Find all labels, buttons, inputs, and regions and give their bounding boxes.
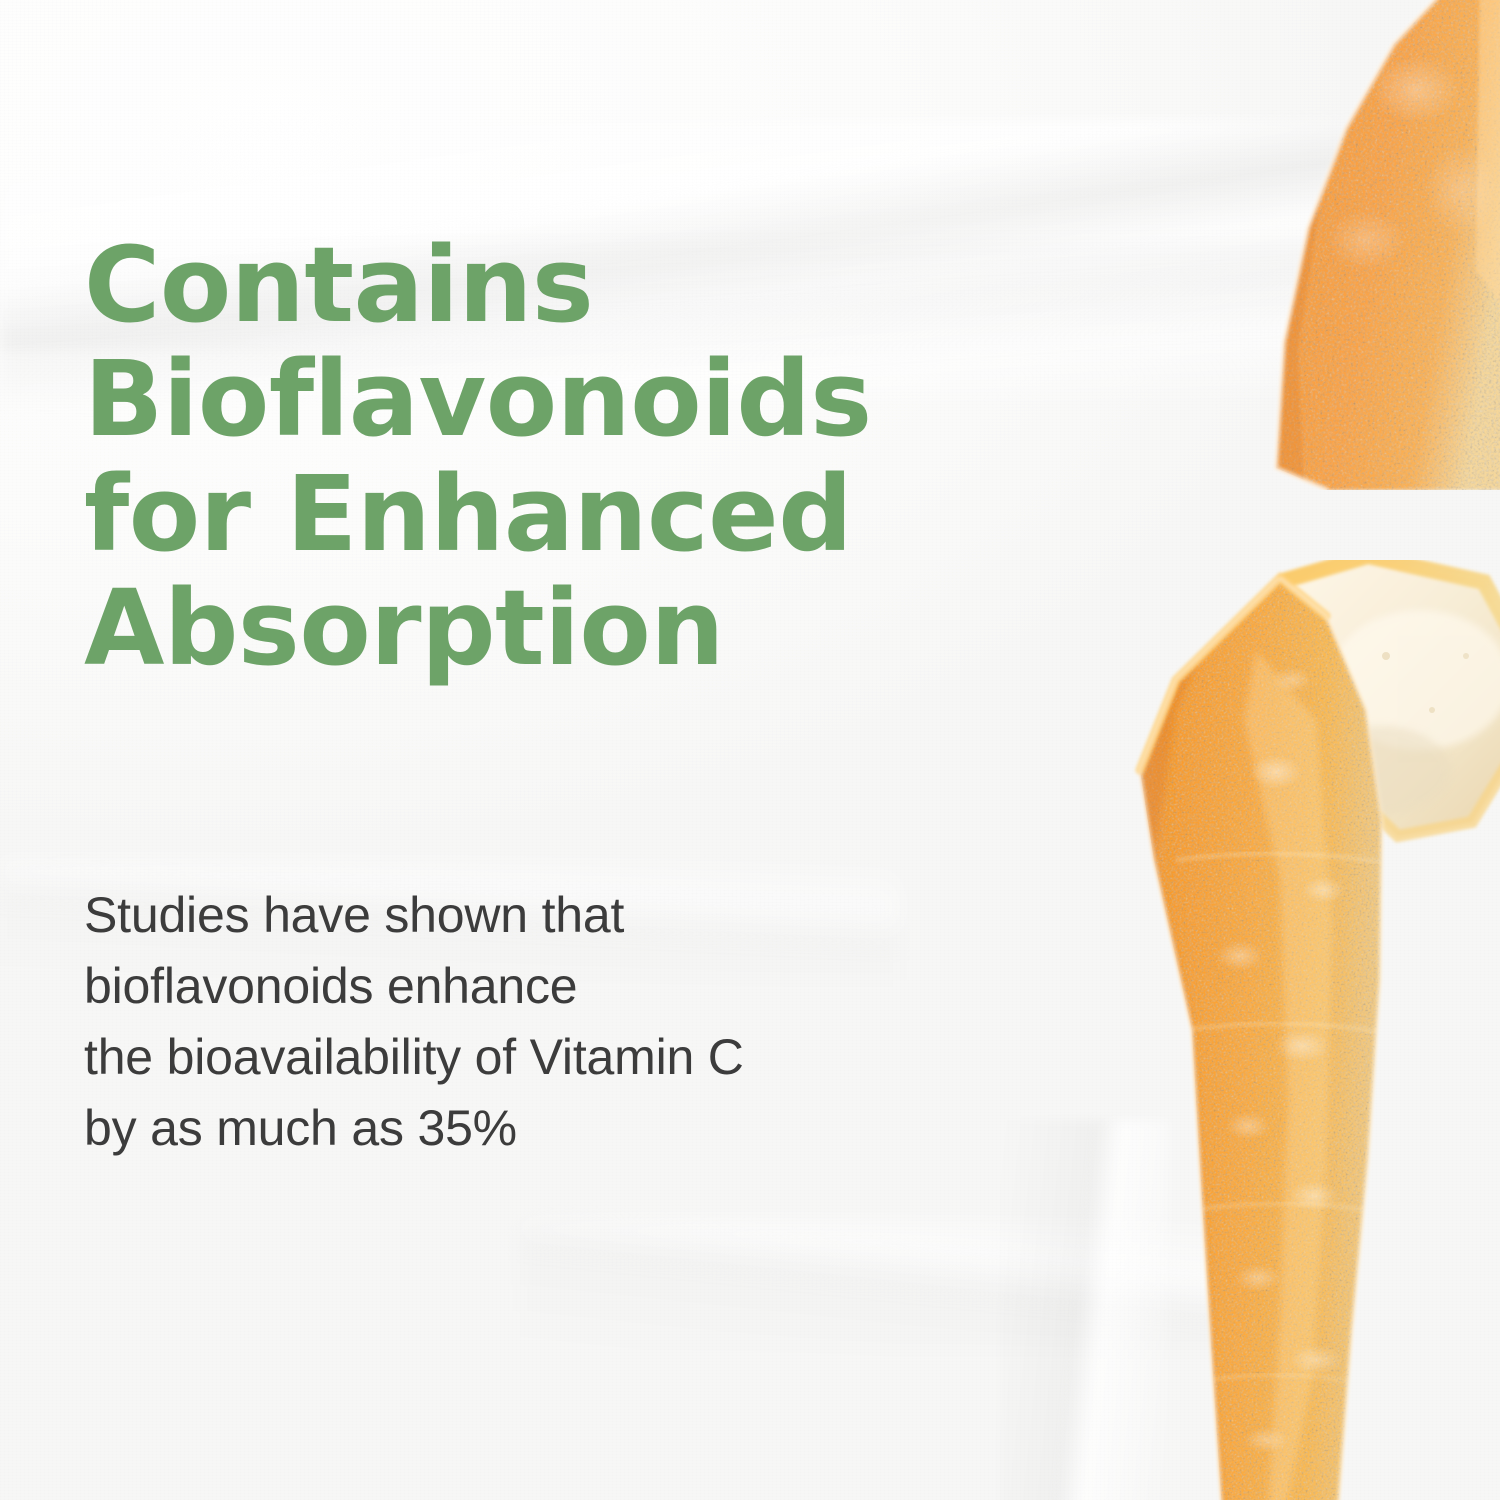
infographic-canvas: Contains Bioflavonoids for Enhanced Abso… xyxy=(0,0,1500,1500)
headline-line-1: Contains xyxy=(84,228,1084,342)
headline-line-4: Absorption xyxy=(84,571,1084,685)
headline-block: Contains Bioflavonoids for Enhanced Abso… xyxy=(84,228,1084,686)
body-copy: Studies have shown that bioflavonoids en… xyxy=(84,880,1084,1164)
body-line-2: bioflavonoids enhance xyxy=(84,951,1084,1022)
page-title: Contains Bioflavonoids for Enhanced Abso… xyxy=(84,228,1084,686)
body-line-1: Studies have shown that xyxy=(84,880,1084,951)
headline-line-2: Bioflavonoids xyxy=(84,342,1084,456)
headline-line-3: for Enhanced xyxy=(84,457,1084,571)
body-line-4: by as much as 35% xyxy=(84,1093,1084,1164)
body-line-3: the bioavailability of Vitamin C xyxy=(84,1022,1084,1093)
